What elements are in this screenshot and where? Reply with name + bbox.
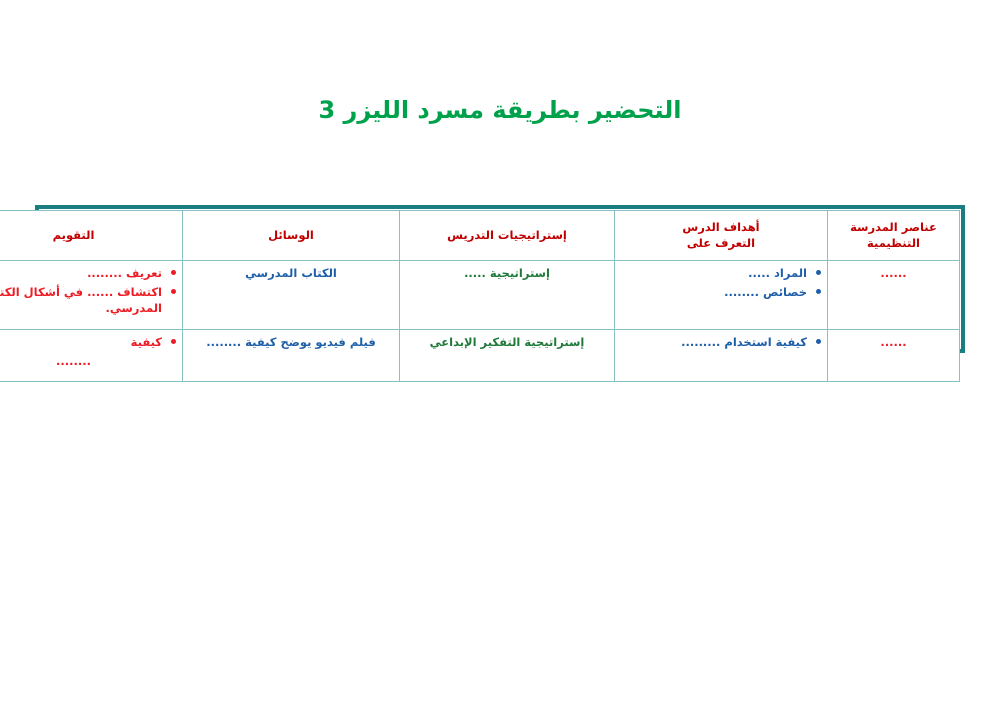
objectives-row-2-item-1: كيفية استخدام .........	[681, 335, 807, 349]
cell-elements-row-2: ......	[828, 330, 960, 382]
column-header-objectives: أهداف الدرس التعرف على	[615, 211, 828, 261]
elements-row-2-line-1: ......	[834, 334, 953, 351]
cell-means-row-2-content: فيلم فيديو يوضح كيفية ........	[189, 334, 393, 351]
cell-strategies-row-1: إستراتيجية .....	[400, 261, 615, 330]
list-item: المراد .....	[621, 265, 821, 282]
list-item: اكتشاف ...... في أشكال الكتاب المدرسي.	[0, 284, 176, 317]
column-header-objectives-line-1: أهداف الدرس	[621, 220, 821, 236]
bullet-dot-icon	[171, 289, 176, 294]
cell-evaluation-row-2-content: كيفية ........	[0, 334, 176, 369]
evaluation-row-2-list: كيفية	[0, 334, 176, 351]
bullet-dot-icon	[816, 339, 821, 344]
list-item: خصائص ........	[621, 284, 821, 301]
table-body: ...... المراد ..... خصائص ........	[0, 261, 960, 382]
table-row: ...... كيفية استخدام .........	[0, 330, 960, 382]
objectives-row-1-item-1: المراد .....	[748, 266, 807, 280]
column-header-elements-line-2: التنظيمية	[834, 236, 953, 252]
page-title: التحضير بطريقة مسرد الليزر 3	[0, 96, 1000, 125]
column-header-means-line-1: الوسائل	[189, 228, 393, 244]
evaluation-row-2-item-1: كيفية	[131, 335, 162, 349]
table-header: عناصر المدرسة التنظيمية أهداف الدرس التع…	[0, 211, 960, 261]
list-item: تعريف ........	[0, 265, 176, 282]
list-item: كيفية استخدام .........	[621, 334, 821, 351]
column-header-strategies: إستراتيجيات التدريس	[400, 211, 615, 261]
cell-elements-row-1-content: ......	[834, 265, 953, 282]
list-item: كيفية	[0, 334, 176, 351]
evaluation-row-1-item-1: تعريف ........	[87, 266, 162, 280]
evaluation-row-1-item-2: اكتشاف ...... في أشكال الكتاب المدرسي.	[0, 285, 162, 316]
column-header-elements-line-1: عناصر المدرسة	[834, 220, 953, 236]
cell-evaluation-row-1: تعريف ........ اكتشاف ...... في أشكال ال…	[0, 261, 183, 330]
column-header-means: الوسائل	[183, 211, 400, 261]
column-header-elements: عناصر المدرسة التنظيمية	[828, 211, 960, 261]
strategies-row-1-line-1: إستراتيجية .....	[406, 265, 608, 282]
cell-strategies-row-1-content: إستراتيجية .....	[406, 265, 608, 282]
cell-evaluation-row-2: كيفية ........	[0, 330, 183, 382]
objectives-row-2-list: كيفية استخدام .........	[621, 334, 821, 351]
bullet-dot-icon	[816, 270, 821, 275]
cell-strategies-row-2-content: إستراتيجية التفكير الإبداعي	[406, 334, 608, 351]
strategies-row-2-line-1: إستراتيجية التفكير الإبداعي	[406, 334, 608, 351]
bullet-dot-icon	[171, 270, 176, 275]
cell-elements-row-1: ......	[828, 261, 960, 330]
elements-row-1-line-1: ......	[834, 265, 953, 282]
column-header-evaluation: التقويم	[0, 211, 183, 261]
evaluation-row-2-item-2: ........	[0, 353, 176, 370]
objectives-row-1-item-2: خصائص ........	[724, 285, 807, 299]
means-row-1-line-1: الكتاب المدرسي	[189, 265, 393, 282]
bullet-dot-icon	[816, 289, 821, 294]
table-header-row: عناصر المدرسة التنظيمية أهداف الدرس التع…	[0, 211, 960, 261]
cell-means-row-2: فيلم فيديو يوضح كيفية ........	[183, 330, 400, 382]
evaluation-row-1-list: تعريف ........ اكتشاف ...... في أشكال ال…	[0, 265, 176, 317]
column-header-objectives-line-2: التعرف على	[621, 236, 821, 252]
cell-objectives-row-2-content: كيفية استخدام .........	[621, 334, 821, 351]
cell-strategies-row-2: إستراتيجية التفكير الإبداعي	[400, 330, 615, 382]
column-header-evaluation-line-1: التقويم	[0, 228, 176, 244]
cell-elements-row-2-content: ......	[834, 334, 953, 351]
cell-means-row-1: الكتاب المدرسي	[183, 261, 400, 330]
cell-objectives-row-1-content: المراد ..... خصائص ........	[621, 265, 821, 300]
means-row-2-line-1: فيلم فيديو يوضح كيفية ........	[189, 334, 393, 351]
bullet-dot-icon	[171, 339, 176, 344]
objectives-row-1-list: المراد ..... خصائص ........	[621, 265, 821, 300]
column-header-strategies-line-1: إستراتيجيات التدريس	[406, 228, 608, 244]
cell-evaluation-row-1-content: تعريف ........ اكتشاف ...... في أشكال ال…	[0, 265, 176, 317]
lesson-plan-table-container: عناصر المدرسة التنظيمية أهداف الدرس التع…	[35, 205, 965, 353]
cell-means-row-1-content: الكتاب المدرسي	[189, 265, 393, 282]
cell-objectives-row-1: المراد ..... خصائص ........	[615, 261, 828, 330]
lesson-plan-table: عناصر المدرسة التنظيمية أهداف الدرس التع…	[0, 210, 960, 382]
table-row: ...... المراد ..... خصائص ........	[0, 261, 960, 330]
cell-objectives-row-2: كيفية استخدام .........	[615, 330, 828, 382]
